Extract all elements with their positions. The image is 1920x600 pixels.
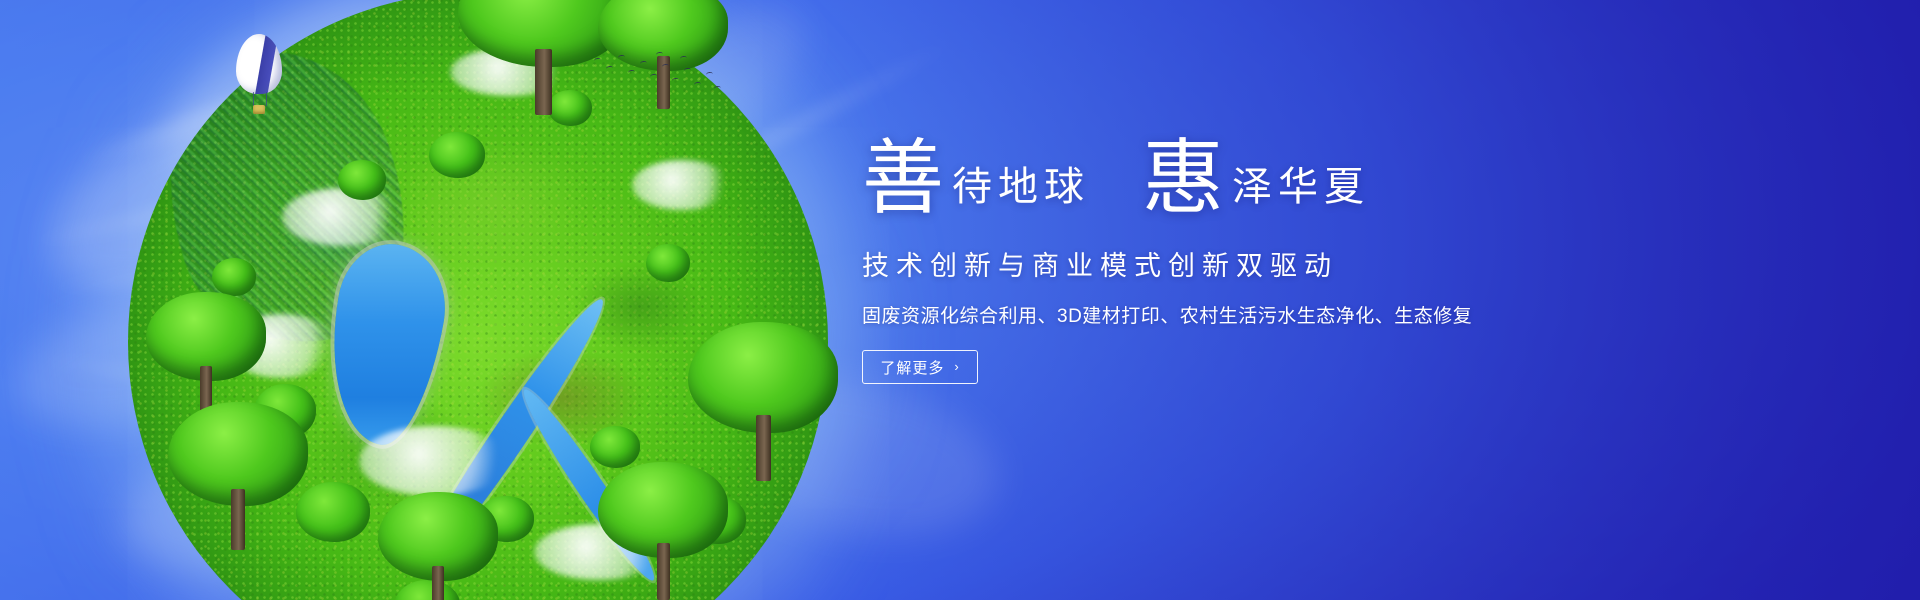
- bird-icon: [656, 52, 664, 58]
- hero-banner: 善 待地球 惠 泽华夏 技术创新与商业模式创新双驱动 固废资源化综合利用、3D建…: [0, 0, 1920, 600]
- tree: [598, 462, 728, 592]
- bush: [429, 132, 485, 178]
- headline-phrase-1: 善 待地球: [862, 132, 1090, 214]
- tree-trunk: [432, 566, 444, 600]
- headline-chars-small: 泽华夏: [1232, 167, 1370, 207]
- bird-flock: [592, 52, 722, 96]
- bird-icon: [662, 64, 670, 70]
- page-title: 善 待地球 惠 泽华夏: [862, 132, 1662, 228]
- tree: [688, 322, 838, 472]
- tree-trunk: [756, 415, 771, 481]
- balloon-basket: [253, 105, 265, 114]
- learn-more-label: 了解更多: [880, 357, 944, 378]
- bird-icon: [684, 68, 692, 74]
- headline-char-large: 善: [862, 138, 944, 220]
- hot-air-balloon-icon: [236, 34, 282, 120]
- bird-icon: [706, 72, 714, 78]
- bird-icon: [606, 66, 614, 72]
- surface-cloud: [359, 426, 509, 496]
- tree: [378, 492, 498, 600]
- bird-icon: [618, 55, 626, 61]
- headline-char-large: 惠: [1142, 138, 1224, 220]
- bird-icon: [680, 56, 688, 62]
- headline-chars-small: 待地球: [952, 167, 1090, 207]
- bush: [212, 258, 256, 296]
- surface-cloud: [282, 188, 402, 246]
- bird-icon: [628, 70, 636, 76]
- tree-trunk: [657, 543, 670, 600]
- hero-subtitle: 技术创新与商业模式创新双驱动: [862, 244, 1662, 283]
- bush: [646, 244, 690, 282]
- bird-icon: [694, 82, 702, 88]
- tree: [146, 292, 266, 412]
- chevron-right-icon: ›: [954, 360, 959, 373]
- hero-copy-block: 善 待地球 惠 泽华夏 技术创新与商业模式创新双驱动 固废资源化综合利用、3D建…: [862, 132, 1662, 384]
- hero-detail-text: 固废资源化综合利用、3D建材打印、农村生活污水生态净化、生态修复: [862, 301, 1662, 328]
- balloon-envelope: [236, 34, 282, 94]
- bird-icon: [594, 58, 602, 64]
- balloon-ropes: [253, 92, 267, 106]
- bird-icon: [714, 86, 722, 92]
- headline-phrase-2: 惠 泽华夏: [1142, 132, 1370, 214]
- bird-icon: [640, 61, 648, 67]
- tree-trunk: [535, 49, 552, 115]
- bush: [338, 160, 386, 200]
- surface-cloud: [632, 160, 732, 210]
- bird-icon: [650, 74, 658, 80]
- tree-trunk: [231, 489, 245, 551]
- globe-illustration: [128, 0, 828, 600]
- learn-more-button[interactable]: 了解更多 ›: [862, 350, 978, 384]
- bird-icon: [672, 78, 680, 84]
- tree: [168, 402, 308, 542]
